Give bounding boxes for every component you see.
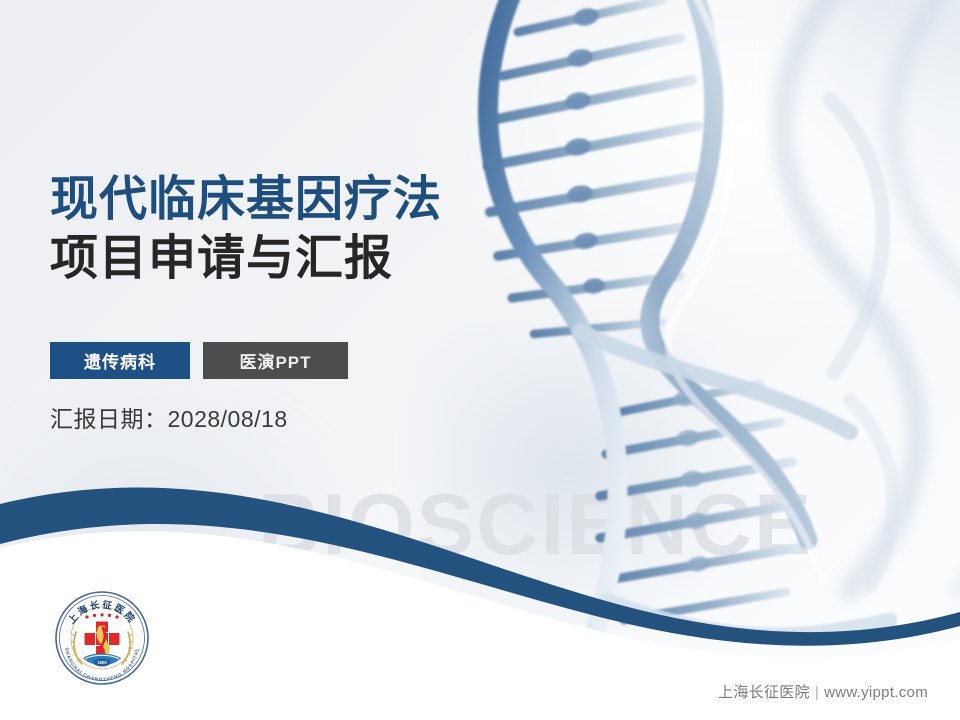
- hospital-logo: 上海长征医院 SHANGHAI CHANGZHENG HOSPITAL: [52, 588, 152, 688]
- footer-website[interactable]: www.yippt.com: [824, 684, 928, 701]
- department-badge[interactable]: 遗传病科: [50, 342, 190, 379]
- footer-organization: 上海长征医院: [718, 684, 810, 701]
- title-line-1: 现代临床基因疗法: [50, 172, 570, 229]
- title-line-2: 项目申请与汇报: [50, 231, 570, 288]
- badge-row: 遗传病科 医演PPT: [50, 342, 348, 379]
- brand-badge[interactable]: 医演PPT: [203, 342, 348, 379]
- footer-separator: |: [815, 684, 819, 701]
- report-date: 汇报日期：2028/08/18: [50, 400, 288, 434]
- svg-text:1900: 1900: [97, 660, 107, 665]
- presentation-title-slide: BIOSCIENCE: [0, 0, 960, 720]
- footer: 上海长征医院|www.yippt.com: [718, 681, 928, 702]
- title-block: 现代临床基因疗法 项目申请与汇报: [50, 172, 570, 287]
